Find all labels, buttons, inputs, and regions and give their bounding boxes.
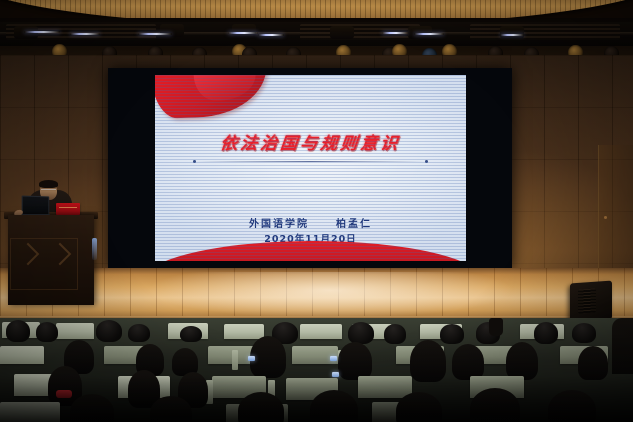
door-knob [604, 216, 607, 219]
audience-head [180, 326, 202, 342]
chair [56, 323, 94, 339]
audience-seating [0, 318, 633, 422]
auditorium-photo: 依法治国与规则意识 外国语学院 柏孟仁 2020年11月20日 [0, 0, 633, 422]
audience-head [36, 322, 58, 342]
audience-head [250, 336, 286, 378]
audience-head [338, 342, 372, 380]
slide-presenter-name: 柏孟仁 [336, 219, 372, 230]
strip-light [258, 34, 284, 36]
podium-edge-light [92, 238, 97, 260]
chair [224, 324, 264, 339]
lamp-housing [500, 26, 524, 39]
lamp-housing [330, 26, 354, 39]
glasses-icon [41, 189, 56, 193]
chair [300, 324, 342, 339]
chair [292, 346, 338, 364]
strip-light [228, 32, 258, 34]
chair [0, 346, 44, 364]
podium-front-panel [10, 238, 78, 290]
audience-head [506, 342, 538, 380]
strip-light [70, 33, 100, 35]
strip-light [138, 33, 172, 35]
audience-head [578, 346, 608, 380]
phone-screen [248, 356, 255, 361]
slide-organization: 外国语学院 [249, 219, 309, 230]
audience-head [534, 322, 558, 344]
audience-head [440, 324, 464, 344]
strip-light [382, 32, 408, 34]
audience-head [96, 320, 122, 342]
stage-floor-spotlight [150, 272, 510, 318]
backpack [489, 318, 503, 336]
strip-light [414, 33, 444, 35]
strip-light [24, 31, 60, 33]
audience-head [348, 322, 374, 344]
projected-slide: 依法治国与规则意识 外国语学院 柏孟仁 2020年11月20日 [155, 75, 466, 261]
audience-head [572, 323, 596, 343]
audience-head [128, 324, 150, 342]
presenter-hair [39, 180, 58, 188]
slide-title: 依法治国与规则意识 [155, 129, 466, 154]
lamp-housing [160, 24, 184, 37]
slide-presenter-line: 外国语学院 柏孟仁 [155, 215, 466, 230]
strip-light [500, 34, 524, 36]
chair-arm [232, 350, 238, 370]
audience-head [6, 320, 30, 342]
red-box-prop [56, 203, 80, 215]
phone-screen [330, 356, 337, 361]
foreground-person-right [612, 318, 633, 374]
cable-tray [470, 24, 620, 40]
slide-title-underline [195, 161, 426, 162]
audience-foreground-shadow [0, 376, 633, 422]
audience-head [452, 344, 484, 380]
audience-head [384, 324, 406, 344]
lamp-housing [232, 24, 256, 37]
speaker-grille [578, 288, 596, 313]
